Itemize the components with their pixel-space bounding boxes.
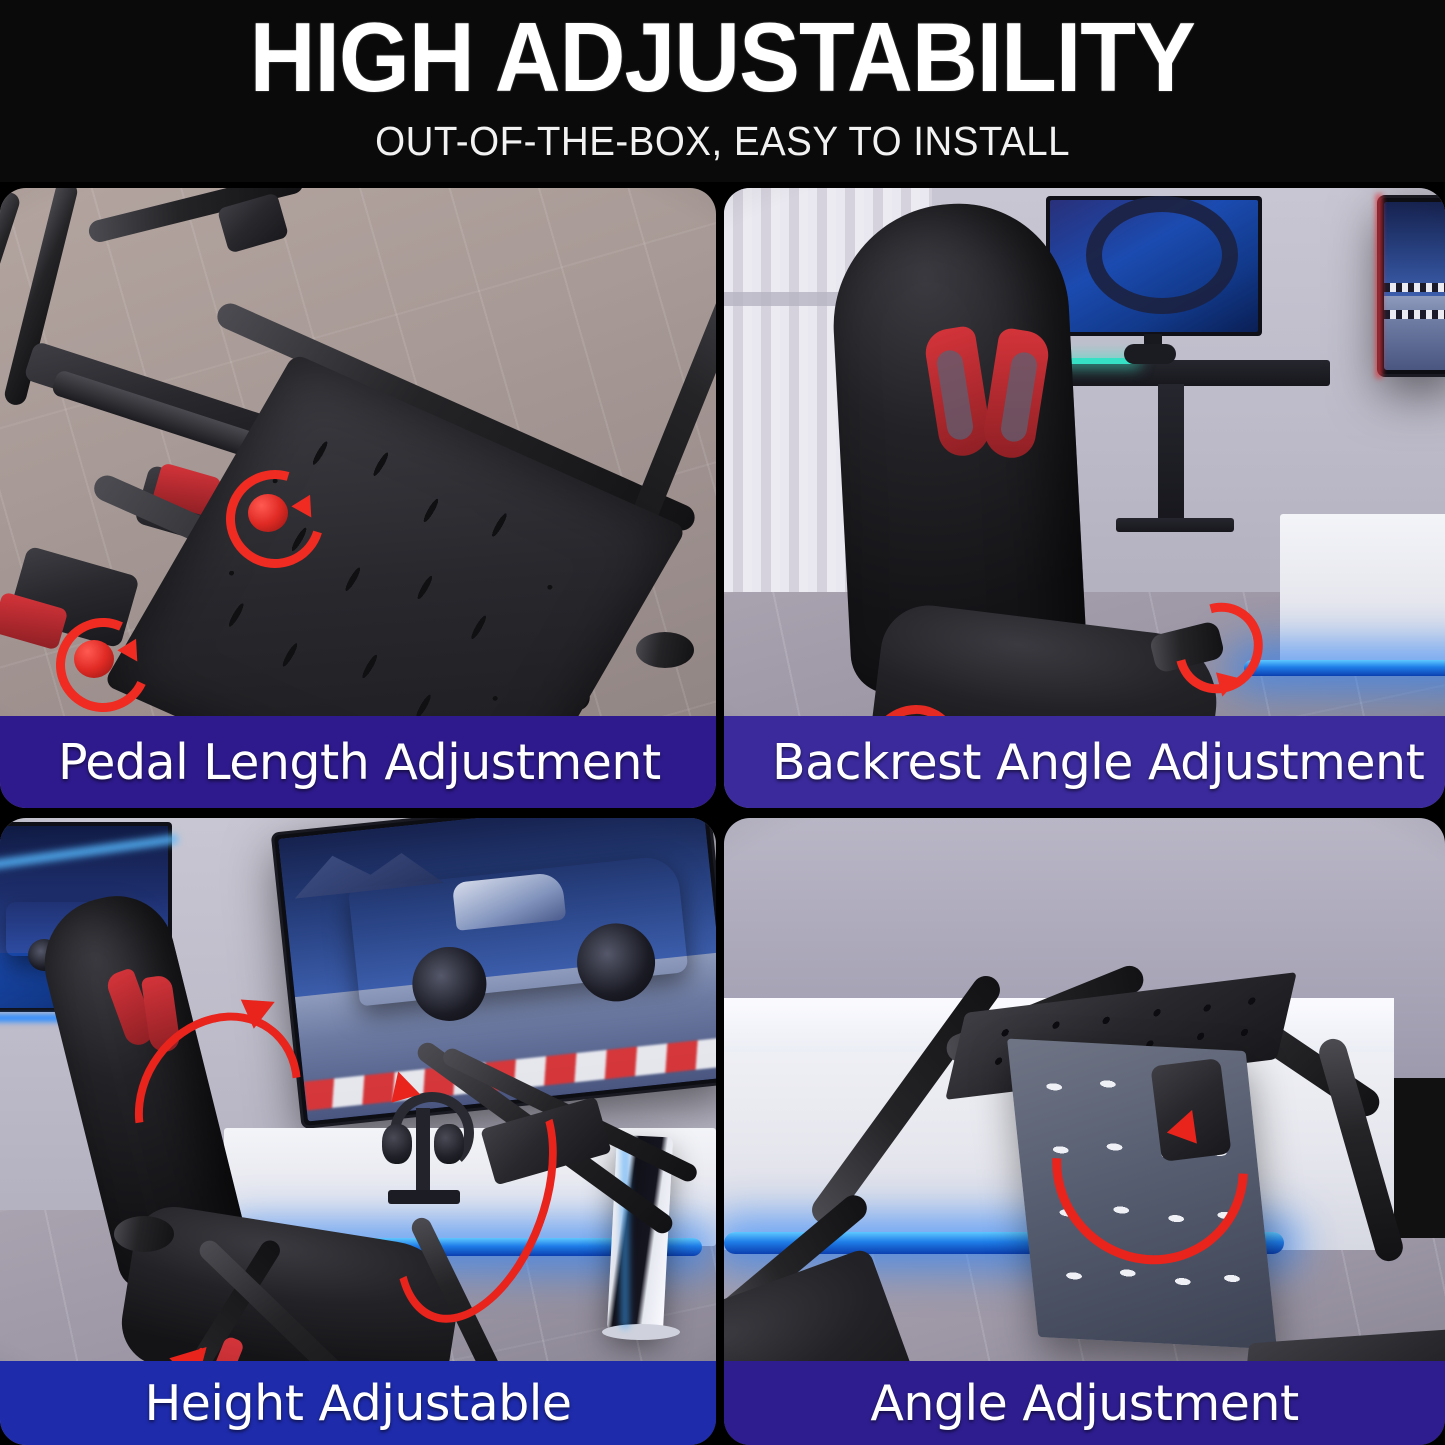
scene-height-adjustable xyxy=(0,818,716,1445)
scene-angle-adjustment xyxy=(724,818,1445,1445)
feature-panel-grid: Pedal Length Adjustment xyxy=(0,182,1445,1445)
caption-angle-adjustment: Angle Adjustment xyxy=(724,1361,1445,1445)
console-blue-glow xyxy=(622,1142,628,1328)
cockpit-pivot-hub xyxy=(114,1216,174,1252)
adjust-knob-lower xyxy=(74,640,114,678)
panel-angle-adjustment[interactable]: Angle Adjustment xyxy=(724,818,1445,1445)
caption-pedal-length: Pedal Length Adjustment xyxy=(0,716,716,808)
product-feature-infographic: HIGH ADJUSTABILITY OUT-OF-THE-BOX, EASY … xyxy=(0,0,1445,1445)
tv-game-kerb-2 xyxy=(1384,310,1445,319)
desk-mouse xyxy=(1124,344,1176,364)
racing-wheel-on-screen-icon xyxy=(1086,196,1238,314)
tv-game-kerb xyxy=(1384,283,1445,292)
panel-height-adjustable[interactable]: Height Adjustable xyxy=(0,818,716,1445)
wall-tv-screen xyxy=(1384,202,1445,370)
tv-game-track xyxy=(1384,296,1445,370)
white-bench xyxy=(1280,514,1445,664)
desk-foot xyxy=(1116,518,1234,532)
panel-backrest-angle[interactable]: Backrest Angle Adjustment xyxy=(724,188,1445,808)
console-base xyxy=(602,1324,680,1340)
panel-pedal-length[interactable]: Pedal Length Adjustment xyxy=(0,188,716,808)
header-banner: HIGH ADJUSTABILITY OUT-OF-THE-BOX, EASY … xyxy=(0,0,1445,182)
scene-pedal-length xyxy=(0,188,716,808)
page-subtitle: OUT-OF-THE-BOX, EASY TO INSTALL xyxy=(375,118,1070,165)
desk-leg-column xyxy=(1158,384,1184,524)
page-title: HIGH ADJUSTABILITY xyxy=(250,8,1195,108)
caption-height-adjustable: Height Adjustable xyxy=(0,1361,716,1445)
wall-tv-red-glow xyxy=(1376,194,1382,378)
scene-backrest-angle xyxy=(724,188,1445,808)
bench-led-strip xyxy=(1244,660,1445,676)
caption-backrest-angle: Backrest Angle Adjustment xyxy=(724,716,1445,808)
headset-earcup-left-icon xyxy=(382,1124,412,1164)
adjust-knob-upper xyxy=(248,494,288,532)
tray-foot-right xyxy=(636,632,694,668)
